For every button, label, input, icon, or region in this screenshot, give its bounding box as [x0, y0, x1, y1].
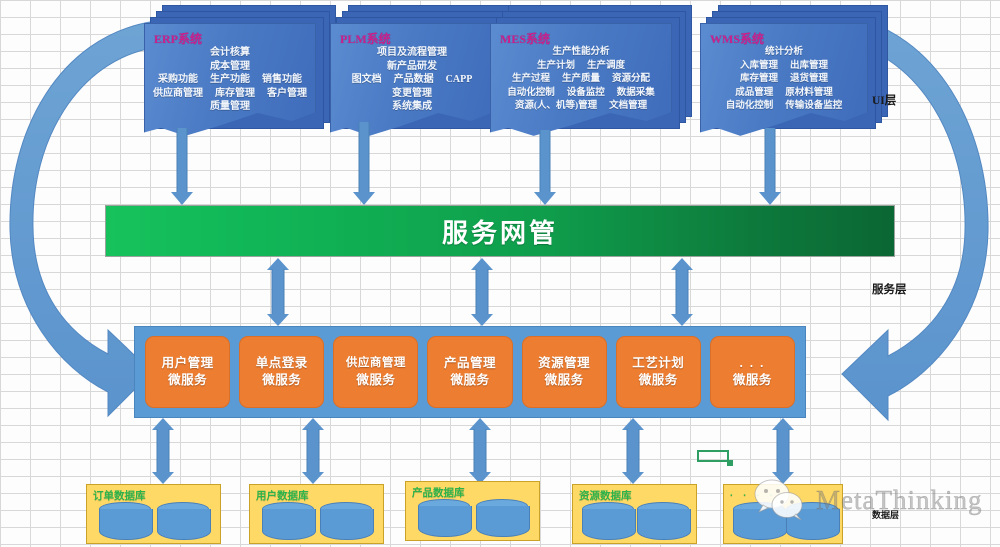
arrow-microservices-db-5 [770, 418, 796, 484]
microservice-product-management[interactable]: 产品管理 微服务 [427, 336, 512, 408]
system-features-erp: 会计核算 成本管理 采购功能生产功能销售功能 供应商管理库存管理客户管理 质量管… [145, 46, 315, 114]
layer-label-ui: UI层 [872, 92, 896, 108]
card-face-mes[interactable]: MES系统 生产性能分析 生产计划生产调度 生产过程生产质量资源分配 自动化控制… [490, 23, 672, 137]
arrow-gateway-microservices-3 [670, 258, 694, 326]
system-title-mes: MES系统 [500, 30, 550, 47]
arrow-gateway-microservices-1 [266, 258, 290, 326]
database-cylinder [262, 502, 314, 542]
database-title-order: 订单数据库 [93, 488, 146, 503]
arrow-wms-to-gateway [758, 128, 782, 206]
arrow-microservices-db-1 [150, 418, 176, 484]
arrow-microservices-db-2 [300, 418, 326, 484]
selection-rectangle[interactable] [697, 450, 729, 462]
database-title-more: . . . . [730, 488, 776, 499]
microservices-band: 用户管理 微服务 单点登录 微服务 供应商管理 微服务 产品管理 微服务 资源管… [134, 326, 806, 418]
system-features-wms: 统计分析 入库管理出库管理 库存管理退货管理 成品管理原材料管理 自动化控制传输… [701, 46, 867, 114]
selection-handle[interactable] [727, 460, 733, 466]
card-face-plm[interactable]: PLM系统 项目及流程管理 新产品研发 图文档产品数据CAPP 变更管理 系统集… [330, 23, 494, 137]
system-card-mes[interactable]: MES系统 生产性能分析 生产计划生产调度 生产过程生产质量资源分配 自动化控制… [490, 5, 700, 137]
arrow-erp-to-gateway [170, 128, 194, 206]
database-product[interactable]: 产品数据库 [405, 481, 540, 541]
architecture-diagram-canvas: ERP系统 会计核算 成本管理 采购功能生产功能销售功能 供应商管理库存管理客户… [0, 0, 1000, 547]
microservice-more[interactable]: . . . 微服务 [710, 336, 795, 408]
microservice-single-sign-on[interactable]: 单点登录 微服务 [239, 336, 324, 408]
database-title-product: 产品数据库 [412, 485, 465, 500]
card-face-wms[interactable]: WMS系统 统计分析 入库管理出库管理 库存管理退货管理 成品管理原材料管理 自… [700, 23, 868, 137]
card-face-erp[interactable]: ERP系统 会计核算 成本管理 采购功能生产功能销售功能 供应商管理库存管理客户… [144, 23, 316, 137]
database-cylinder [476, 499, 528, 539]
arrow-microservices-db-4 [620, 418, 646, 484]
database-cylinder [733, 502, 785, 542]
arrow-mes-to-gateway [533, 130, 557, 206]
database-user[interactable]: 用户数据库 [249, 484, 384, 544]
arrow-plm-to-gateway [352, 122, 376, 206]
microservice-user-management[interactable]: 用户管理 微服务 [145, 336, 230, 408]
database-cylinder [582, 502, 634, 542]
system-features-mes: 生产性能分析 生产计划生产调度 生产过程生产质量资源分配 自动化控制设备监控数据… [491, 46, 671, 114]
database-cylinder [157, 502, 209, 542]
system-title-plm: PLM系统 [340, 30, 391, 47]
arrow-gateway-microservices-2 [470, 258, 494, 326]
service-gateway-title: 服务网管 [442, 213, 558, 250]
layer-label-service: 服务层 [872, 281, 907, 297]
arrow-microservices-db-3 [467, 418, 493, 484]
system-card-wms[interactable]: WMS系统 统计分析 入库管理出库管理 库存管理退货管理 成品管理原材料管理 自… [700, 5, 890, 137]
database-cylinder [786, 502, 838, 542]
microservice-supplier-management[interactable]: 供应商管理 微服务 [333, 336, 418, 408]
system-card-erp[interactable]: ERP系统 会计核算 成本管理 采购功能生产功能销售功能 供应商管理库存管理客户… [144, 5, 334, 137]
service-gateway-bar[interactable]: 服务网管 [105, 205, 895, 257]
system-title-erp: ERP系统 [154, 30, 202, 47]
database-more[interactable]: . . . . [723, 484, 843, 544]
database-cylinder [99, 502, 151, 542]
system-features-plm: 项目及流程管理 新产品研发 图文档产品数据CAPP 变更管理 系统集成 [331, 46, 493, 114]
microservice-process-plan[interactable]: 工艺计划 微服务 [616, 336, 701, 408]
database-order[interactable]: 订单数据库 [86, 484, 221, 544]
system-title-wms: WMS系统 [710, 30, 764, 47]
database-title-resource: 资源数据库 [579, 488, 632, 503]
database-title-user: 用户数据库 [256, 488, 309, 503]
database-cylinder [637, 502, 689, 542]
microservice-resource-management[interactable]: 资源管理 微服务 [522, 336, 607, 408]
layer-label-data: 数据层 [872, 508, 899, 521]
database-cylinder [418, 499, 470, 539]
database-resource[interactable]: 资源数据库 [572, 484, 697, 544]
database-cylinder [320, 502, 372, 542]
